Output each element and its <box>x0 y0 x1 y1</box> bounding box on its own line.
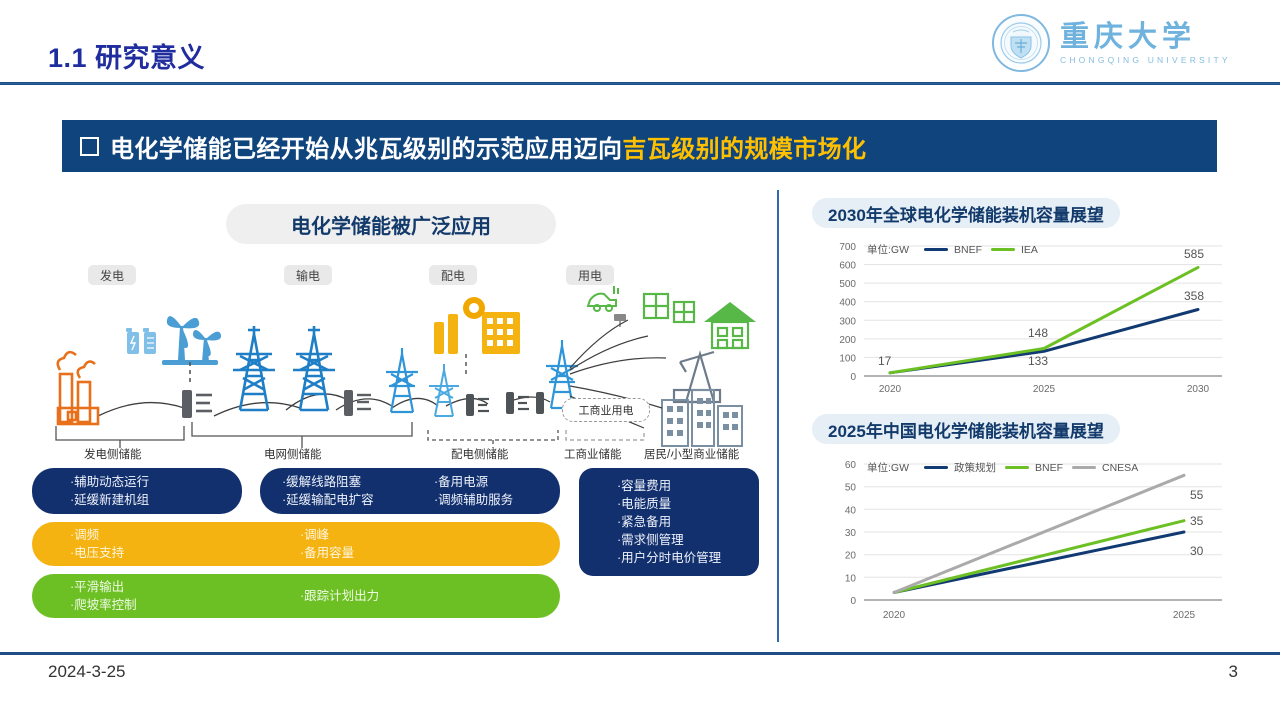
amber-box-list-2: ·调峰 ·备用容量 <box>300 526 354 562</box>
svg-text:200: 200 <box>839 335 856 346</box>
green-box-list-1: ·平滑输出 ·爬坡率控制 <box>70 578 300 614</box>
data-label-55: 55 <box>1190 488 1203 502</box>
footer-divider <box>0 652 1280 655</box>
blue-box-consumer-list: ·容量费用 ·电能质量 ·紧急备用 ·需求侧管理 ·用户分时电价管理 <box>617 477 721 568</box>
svg-text:2025: 2025 <box>1033 384 1056 395</box>
blue-box-grid-columns: ·缓解线路阻塞 ·延缓输配电扩容 ·备用电源 ·调频辅助服务 <box>282 473 560 509</box>
blue-box-grid: ·缓解线路阻塞 ·延缓输配电扩容 ·备用电源 ·调频辅助服务 <box>260 468 560 514</box>
legend-item-bnef: BNEF <box>924 244 982 256</box>
amber-box-list-1: ·调频 ·电压支持 <box>70 526 300 562</box>
list-item: ·电能质量 <box>617 495 721 513</box>
list-item: ·需求侧管理 <box>617 531 721 549</box>
slide-root: 1.1 研究意义 重庆大学 CHONGQING UNIVERSITY 电化学储能… <box>0 0 1280 720</box>
brace-label-grid-storage: 电网侧储能 <box>264 446 322 462</box>
data-label-358: 358 <box>1184 289 1204 303</box>
chart-global-2030: 2030年全球电化学储能装机容量展望 700 600 500 400 300 2… <box>812 198 1232 401</box>
list-item: ·调频辅助服务 <box>434 491 513 509</box>
list-item: ·缓解线路阻塞 <box>282 473 434 491</box>
chart-china-2025-legend: 单位:GW 政策规划 BNEF CNESA <box>867 460 1138 475</box>
chart-china-2025: 2025年中国电化学储能装机容量展望 60 50 40 30 20 10 0 <box>812 414 1232 632</box>
header-divider <box>0 82 1280 85</box>
legend-item-bnef-cn: BNEF <box>1005 462 1063 474</box>
list-item: ·电压支持 <box>70 544 300 562</box>
list-item: ·调频 <box>70 526 300 544</box>
list-item: ·延缓输配电扩容 <box>282 491 434 509</box>
legend-label-cnesa: CNESA <box>1102 462 1138 474</box>
svg-text:400: 400 <box>839 298 856 309</box>
svg-text:300: 300 <box>839 316 856 327</box>
footer-page-number: 3 <box>1229 662 1238 682</box>
list-item: ·备用容量 <box>300 544 354 562</box>
chart-china-2025-unit: 单位:GW <box>867 460 909 475</box>
svg-text:600: 600 <box>839 261 856 272</box>
data-label-148: 148 <box>1028 326 1048 340</box>
inline-tag-commercial-industrial: 工商业用电 <box>562 398 650 422</box>
legend-swatch-bnef <box>924 248 948 252</box>
svg-text:100: 100 <box>839 353 856 364</box>
svg-text:30: 30 <box>845 528 857 539</box>
banner-text-highlight: 吉瓦级别的规模市场化 <box>622 136 866 163</box>
svg-text:2030: 2030 <box>1187 384 1210 395</box>
data-label-133: 133 <box>1028 354 1048 368</box>
data-label-35: 35 <box>1190 514 1203 528</box>
list-item: ·紧急备用 <box>617 513 721 531</box>
svg-text:0: 0 <box>850 596 856 607</box>
legend-label-bnef: BNEF <box>954 244 982 256</box>
logo-wordmark: 重庆大学 CHONGQING UNIVERSITY <box>1060 21 1231 64</box>
svg-text:20: 20 <box>845 551 857 562</box>
svg-text:0: 0 <box>850 372 856 383</box>
brace-label-ci-storage: 工商业储能 <box>564 446 622 462</box>
legend-label-bnef-cn: BNEF <box>1035 462 1063 474</box>
university-logo: 重庆大学 CHONGQING UNIVERSITY <box>992 14 1242 72</box>
chart-china-2025-plot: 60 50 40 30 20 10 0 <box>812 452 1232 632</box>
chart-china-2025-title: 2025年中国电化学储能装机容量展望 <box>812 414 1120 444</box>
legend-item-iea: IEA <box>991 244 1038 256</box>
logo-english-name: CHONGQING UNIVERSITY <box>1060 55 1231 65</box>
list-item: ·辅助动态运行 <box>70 473 149 491</box>
diagram-title: 电化学储能被广泛应用 <box>226 204 556 244</box>
amber-box-columns: ·调频 ·电压支持 ·调峰 ·备用容量 <box>70 526 560 562</box>
power-system-illustration <box>14 250 766 450</box>
legend-swatch-cnesa <box>1072 466 1096 470</box>
list-item: ·爬坡率控制 <box>70 596 300 614</box>
list-item: ·容量费用 <box>617 477 721 495</box>
blue-box-consumer: ·容量费用 ·电能质量 ·紧急备用 ·需求侧管理 ·用户分时电价管理 <box>579 468 759 576</box>
svg-text:700: 700 <box>839 242 856 253</box>
green-box-list-2: ·跟踪计划出力 <box>300 578 379 614</box>
list-item: ·跟踪计划出力 <box>300 587 379 605</box>
brace-label-generation-storage: 发电侧储能 <box>84 446 142 462</box>
amber-box-row: ·调频 ·电压支持 ·调峰 ·备用容量 <box>32 522 560 566</box>
svg-text:60: 60 <box>845 460 857 471</box>
university-seal-icon <box>992 14 1050 72</box>
svg-text:2025: 2025 <box>1173 610 1196 621</box>
blue-box-grid-list-2: ·备用电源 ·调频辅助服务 <box>434 473 513 509</box>
chart-global-2030-unit: 单位:GW <box>867 242 909 257</box>
list-item: ·调峰 <box>300 526 354 544</box>
footer-date: 2024-3-25 <box>48 662 126 682</box>
page-title: 1.1 研究意义 <box>48 36 205 75</box>
green-box-row: ·平滑输出 ·爬坡率控制 ·跟踪计划出力 <box>32 574 560 618</box>
chart-global-2030-plot: 700 600 500 400 300 200 100 0 <box>812 236 1232 401</box>
svg-text:2020: 2020 <box>883 610 906 621</box>
list-item: ·备用电源 <box>434 473 513 491</box>
legend-swatch-policy <box>924 466 948 470</box>
chart-global-2030-legend: 单位:GW BNEF IEA <box>867 242 1038 257</box>
blue-box-generation-list: ·辅助动态运行 ·延缓新建机组 <box>70 473 149 509</box>
svg-text:10: 10 <box>845 573 857 584</box>
chart-global-2030-title: 2030年全球电化学储能装机容量展望 <box>812 198 1120 228</box>
list-item: ·平滑输出 <box>70 578 300 596</box>
blue-box-generation: ·辅助动态运行 ·延缓新建机组 <box>32 468 242 514</box>
data-label-585: 585 <box>1184 247 1204 261</box>
banner-text-plain: 电化学储能已经开始从兆瓦级别的示范应用迈向 <box>110 136 622 163</box>
svg-text:50: 50 <box>845 483 857 494</box>
vertical-divider <box>777 190 779 642</box>
blue-box-grid-list-1: ·缓解线路阻塞 ·延缓输配电扩容 <box>282 473 434 509</box>
key-point-banner: 电化学储能已经开始从兆瓦级别的示范应用迈向吉瓦级别的规模市场化 <box>62 120 1217 172</box>
legend-label-policy: 政策规划 <box>954 460 996 475</box>
green-box-columns: ·平滑输出 ·爬坡率控制 ·跟踪计划出力 <box>70 578 560 614</box>
brace-label-residential-storage: 居民/小型商业储能 <box>644 446 739 462</box>
svg-text:500: 500 <box>839 279 856 290</box>
list-item: ·用户分时电价管理 <box>617 549 721 567</box>
data-label-17: 17 <box>878 354 891 368</box>
application-diagram: 电化学储能被广泛应用 发电 输电 配电 用电 <box>14 190 766 640</box>
legend-label-iea: IEA <box>1021 244 1038 256</box>
svg-text:40: 40 <box>845 505 857 516</box>
list-item: ·延缓新建机组 <box>70 491 149 509</box>
square-bullet-icon <box>80 137 99 156</box>
banner-text: 电化学储能已经开始从兆瓦级别的示范应用迈向吉瓦级别的规模市场化 <box>110 129 866 164</box>
brace-label-distribution-storage: 配电侧储能 <box>451 446 509 462</box>
logo-chinese-name: 重庆大学 <box>1060 21 1231 51</box>
legend-item-policy: 政策规划 <box>924 460 996 475</box>
legend-item-cnesa: CNESA <box>1072 462 1138 474</box>
data-label-30: 30 <box>1190 544 1203 558</box>
svg-text:2020: 2020 <box>879 384 902 395</box>
legend-swatch-iea <box>991 248 1015 252</box>
legend-swatch-bnef-cn <box>1005 466 1029 470</box>
